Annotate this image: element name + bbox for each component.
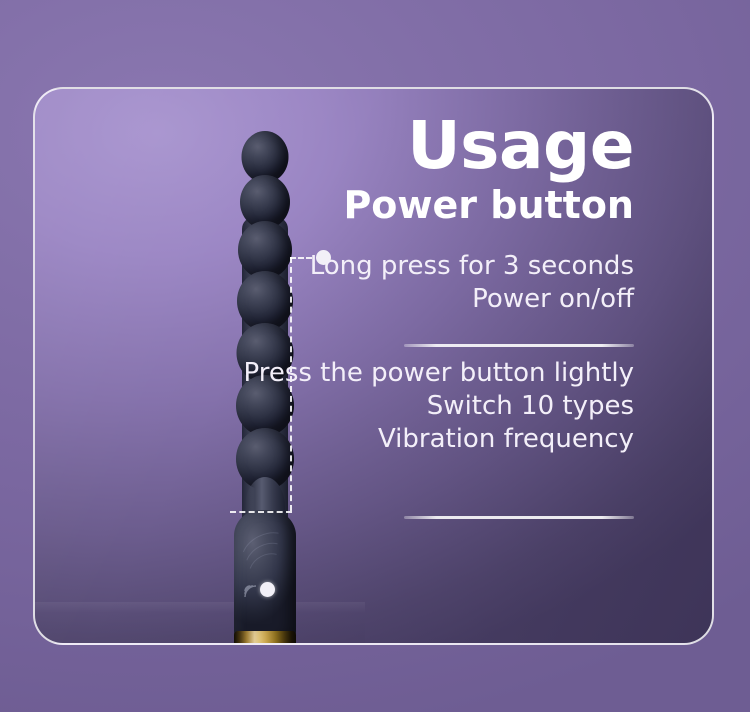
page-title: Usage bbox=[204, 111, 634, 180]
divider-rule bbox=[404, 516, 634, 519]
section-heading-power-button: Power button bbox=[204, 184, 634, 228]
product-gold-cap bbox=[234, 631, 296, 645]
usage-text-column: Usage Power button Long press for 3 seco… bbox=[204, 111, 634, 519]
content-frame: Usage Power button Long press for 3 seco… bbox=[33, 87, 714, 645]
instruction-line: Press the power button lightly bbox=[204, 357, 634, 390]
instruction-block-modes: Press the power button lightly Switch 10… bbox=[204, 357, 634, 457]
product-grip bbox=[234, 510, 296, 645]
divider-rule bbox=[404, 344, 634, 347]
poster-canvas: Usage Power button Long press for 3 seco… bbox=[0, 0, 750, 712]
power-button-marker-on-device[interactable] bbox=[260, 582, 275, 597]
instruction-line: Long press for 3 seconds bbox=[204, 250, 634, 283]
instruction-line: Switch 10 types bbox=[204, 390, 634, 423]
instruction-block-power: Long press for 3 seconds Power on/off bbox=[204, 250, 634, 317]
instruction-line: Power on/off bbox=[204, 283, 634, 316]
vibration-wave-icon bbox=[238, 579, 262, 603]
instruction-line: Vibration frequency bbox=[204, 423, 634, 456]
